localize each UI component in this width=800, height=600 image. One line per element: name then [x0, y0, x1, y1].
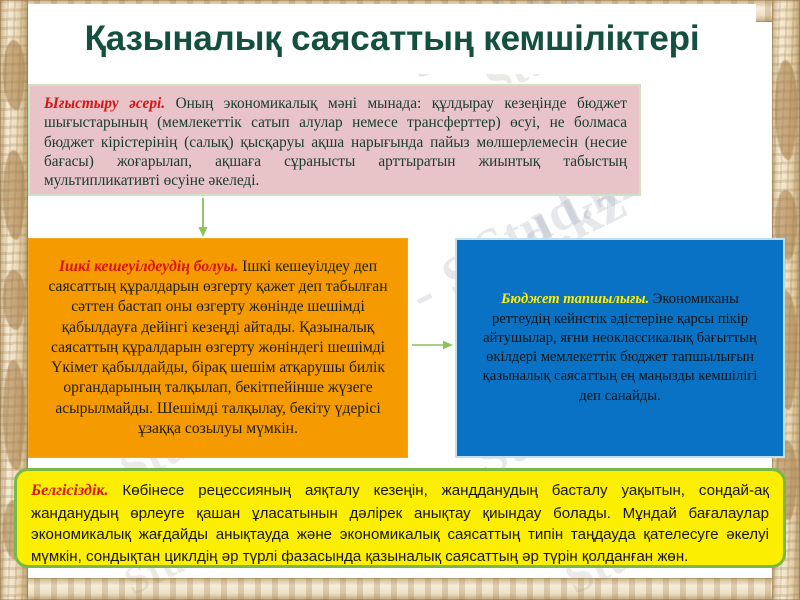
card-displacement-effect: Ығыстыру әсері. Оның экономикалық мәні м…	[28, 84, 641, 196]
card-heading: Ішкі кешеуілдеудің болуы.	[59, 258, 238, 275]
card-text: Белгісіздік. Көбінесе рецессияның аяқтал…	[31, 480, 769, 567]
ornament-band-bottom	[0, 578, 800, 600]
card-heading: Ығыстыру әсері.	[44, 95, 165, 112]
card-heading: Бюджет тапшылығы.	[501, 291, 649, 307]
title-bar: Қазыналық саясаттың кемшіліктері	[28, 4, 756, 74]
card-text: Бюджет тапшылығы. Экономиканы реттеудің …	[473, 290, 767, 406]
card-uncertainty: Белгісіздік. Көбінесе рецессияның аяқтал…	[14, 468, 786, 568]
card-internal-lag: Ішкі кешеуілдеудің болуы. Ішкі кешеуілде…	[28, 238, 408, 458]
card-text: Ішкі кешеуілдеудің болуы. Ішкі кешеуілде…	[43, 257, 393, 439]
card-text: Ығыстыру әсері. Оның экономикалық мәні м…	[44, 94, 627, 190]
card-body: Көбінесе рецессияның аяқталу кезеңін, жа…	[31, 482, 769, 565]
card-body: Ішкі кешеуілдеу деп саясаттың құралдарын…	[48, 258, 387, 437]
card-body: Экономиканы реттеудің кейнстік әдістерін…	[483, 291, 758, 403]
page-title: Қазыналық саясаттың кемшіліктері	[85, 19, 700, 59]
arrow-right-icon	[412, 338, 454, 352]
card-heading: Белгісіздік.	[31, 482, 109, 499]
slide-background: Stud.kz Stud.kz kz - Stud.kz Stud.kz Stu…	[0, 0, 800, 600]
card-budget-deficit: Бюджет тапшылығы. Экономиканы реттеудің …	[455, 238, 785, 458]
arrow-down-icon	[196, 198, 210, 238]
